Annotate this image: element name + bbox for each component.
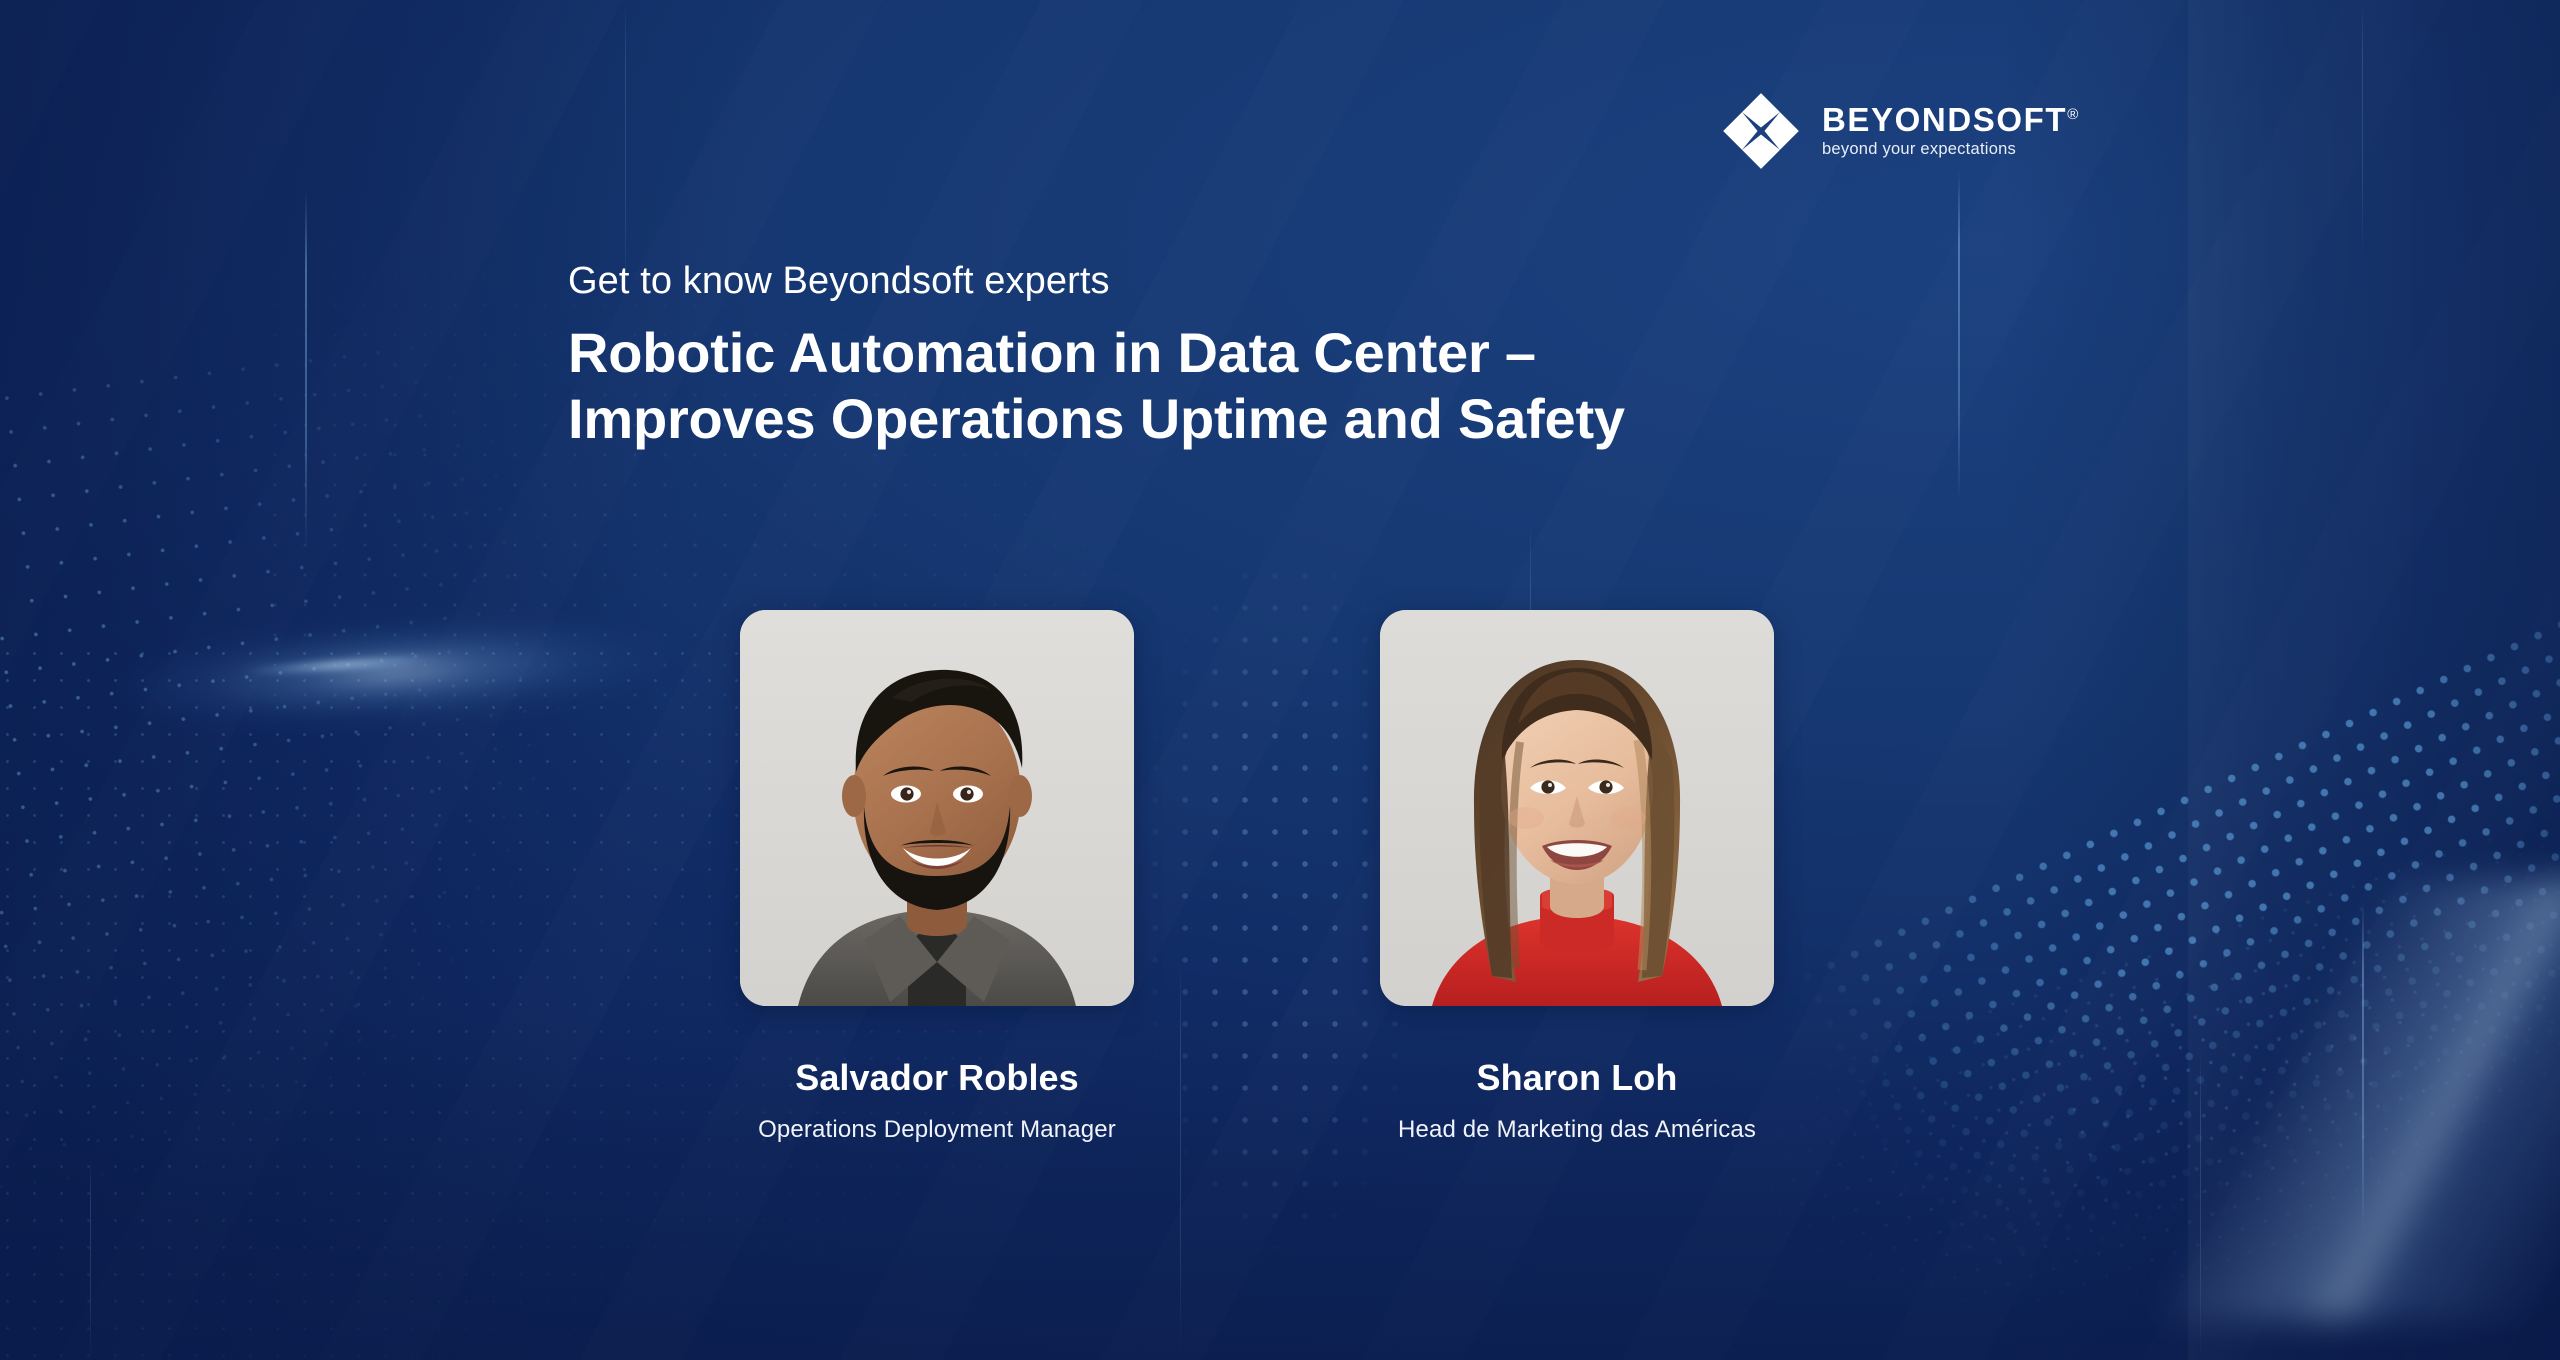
beyondsoft-logo: BEYONDSOFT® beyond your expectations — [1718, 88, 2078, 174]
speaker-card: Sharon Loh Head de Marketing das América… — [1380, 610, 1774, 1144]
speaker-role: Head de Marketing das Américas — [1398, 1116, 1756, 1145]
speaker-name: Salvador Robles — [795, 1058, 1079, 1098]
light-streak-right-icon — [2120, 880, 2560, 1320]
logo-name: BEYONDSOFT® — [1822, 103, 2078, 137]
headline-block: Get to know Beyondsoft experts Robotic A… — [568, 258, 1625, 453]
title-line-2: Improves Operations Uptime and Safety — [568, 386, 1625, 453]
accent-line-7 — [2362, 900, 2364, 1230]
accent-line-8 — [2200, 1050, 2201, 1360]
accent-line-2 — [625, 0, 626, 300]
logo-name-text: BEYONDSOFT — [1822, 101, 2067, 138]
presentation-slide: BEYONDSOFT® beyond your expectations Get… — [0, 0, 2560, 1360]
avatar — [1380, 610, 1774, 1006]
logo-wordmark: BEYONDSOFT® beyond your expectations — [1822, 103, 2078, 159]
accent-line-6 — [2362, 0, 2363, 260]
registered-mark-icon: ® — [2067, 106, 2078, 123]
page-title: Robotic Automation in Data Center – Impr… — [568, 320, 1625, 453]
accent-line-9 — [90, 1160, 91, 1360]
logo-tagline: beyond your expectations — [1822, 140, 2078, 159]
accent-line-5 — [1958, 170, 1960, 500]
speaker-name: Sharon Loh — [1477, 1058, 1678, 1098]
speaker-list: Salvador Robles Operations Deployment Ma… — [740, 610, 1774, 1144]
beyondsoft-pinwheel-diamond-icon — [1718, 88, 1804, 174]
avatar — [740, 610, 1134, 1006]
speaker-card: Salvador Robles Operations Deployment Ma… — [740, 610, 1134, 1144]
speaker-role: Operations Deployment Manager — [758, 1116, 1116, 1145]
accent-line-1 — [305, 190, 307, 550]
title-line-1: Robotic Automation in Data Center – — [568, 320, 1625, 387]
eyebrow-text: Get to know Beyondsoft experts — [568, 258, 1625, 306]
